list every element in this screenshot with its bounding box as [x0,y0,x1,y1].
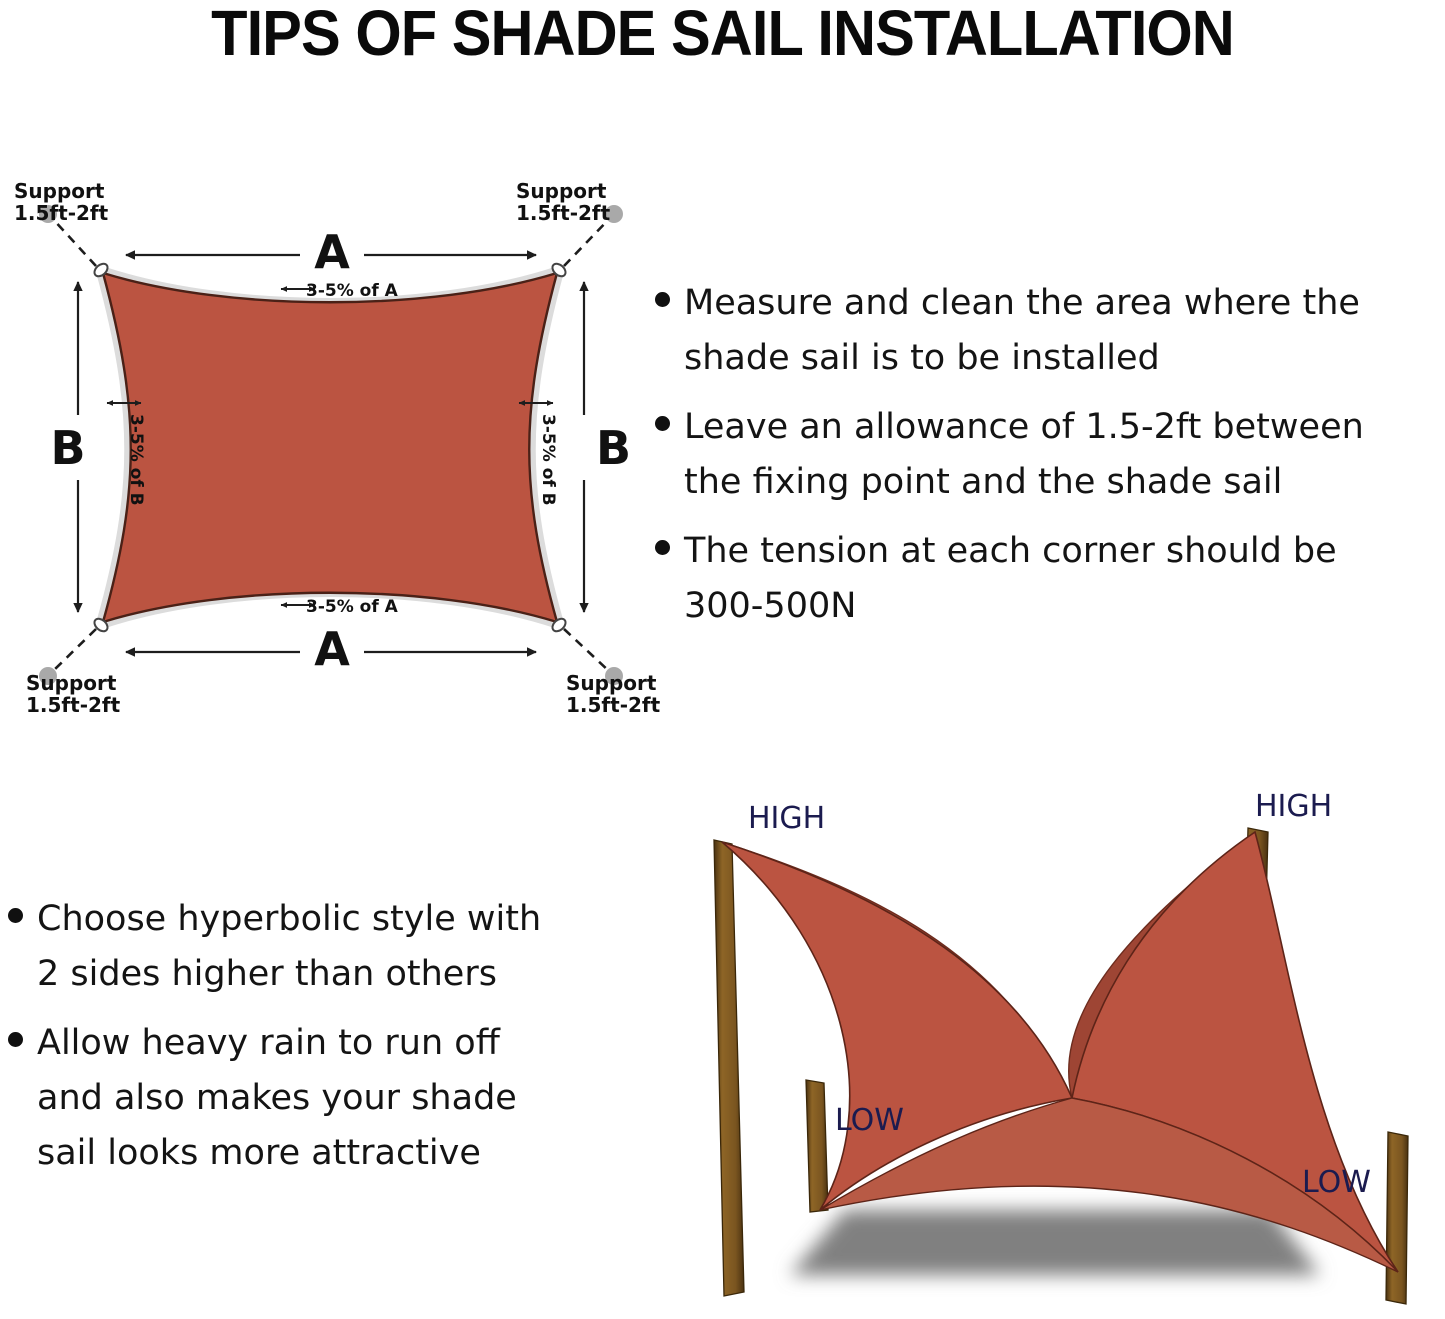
tip-1-line-2: shade sail is to be installed [684,338,1160,378]
hyperbolic-sail-illustration: HIGH HIGH LOW LOW [670,780,1445,1319]
tip-3-line-2: 300-500N [684,586,856,626]
support-label-bottom-right-line2: 1.5ft-2ft [566,693,660,717]
tether-bottom-right [564,629,610,672]
tip-2-line-1: Leave an allowance of 1.5-2ft between [684,407,1364,447]
curve-depth-label-bottom: 3-5% of A [306,597,399,617]
list-item: Choose hyperbolic style with 2 sides hig… [8,892,633,1002]
curve-depth-left: 3-5% of B [107,403,146,506]
support-label-top-right: Support 1.5ft-2ft [516,179,611,225]
post-label-high-right: HIGH [1255,789,1332,824]
tip-text-1: Measure and clean the area where the sha… [684,276,1360,386]
curve-depth-label-right: 3-5% of B [538,414,558,506]
hypar-tip-text-1: Choose hyperbolic style with 2 sides hig… [37,892,541,1002]
post-high-left [714,840,744,1296]
tether-top-right [564,218,610,266]
support-label-top-left-line1: Support [14,179,105,203]
ground-shadow [790,1210,1320,1275]
tip-text-3: The tension at each corner should be 300… [684,524,1337,634]
bullet-dot-icon [655,292,670,307]
support-label-top-right-line2: 1.5ft-2ft [516,201,611,225]
tips-infographic-page: TIPS OF SHADE SAIL INSTALLATION [0,0,1445,1319]
dimension-label-b-right: B [596,421,631,475]
post-label-low-right: LOW [1302,1165,1371,1200]
page-title: TIPS OF SHADE SAIL INSTALLATION [51,0,1395,70]
installation-tips-list: Measure and clean the area where the sha… [655,276,1445,648]
support-label-bottom-right: Support 1.5ft-2ft [566,671,660,717]
curve-depth-label-top: 3-5% of A [306,281,399,301]
post-label-high-left: HIGH [748,801,825,836]
list-item: The tension at each corner should be 300… [655,524,1445,634]
support-label-top-right-line1: Support [516,179,607,203]
tip-1-line-1: Measure and clean the area where the [684,283,1360,323]
sail-main-body [722,832,1398,1272]
hypar-tip-1-line-1: Choose hyperbolic style with [37,899,541,939]
support-label-bottom-left-line1: Support [26,671,117,695]
post-low-left [806,1080,828,1212]
tether-top-left [52,218,96,266]
list-item: Allow heavy rain to run off and also mak… [8,1016,633,1181]
tip-2-line-2: the fixing point and the shade sail [684,462,1282,502]
support-label-bottom-left: Support 1.5ft-2ft [26,671,121,717]
support-label-bottom-right-line1: Support [566,671,657,695]
hyperbolic-style-tips-list: Choose hyperbolic style with 2 sides hig… [8,892,633,1195]
dimension-b-left: B [50,282,85,612]
support-label-top-left-line2: 1.5ft-2ft [14,201,109,225]
dimension-a-bottom: A [126,622,536,676]
dimension-b-right: B [584,282,631,612]
list-item: Leave an allowance of 1.5-2ft between th… [655,400,1445,510]
hypar-tip-2-line-1: Allow heavy rain to run off [37,1023,500,1063]
bullet-dot-icon [8,908,23,923]
support-label-top-left: Support 1.5ft-2ft [14,179,109,225]
dimension-label-a-bottom: A [314,622,350,676]
hypar-tip-2-line-3: sail looks more attractive [37,1133,481,1173]
post-low-right [1386,1132,1408,1304]
tether-bottom-left [52,629,96,672]
tip-3-line-1: The tension at each corner should be [684,531,1337,571]
curve-depth-bottom: 3-5% of A [281,597,399,617]
dimension-label-b-left: B [50,421,85,475]
shade-sail-shape [103,273,557,622]
bullet-dot-icon [655,416,670,431]
rectangular-sail-diagram: Support 1.5ft-2ft Support 1.5ft-2ft Supp… [0,160,660,730]
list-item: Measure and clean the area where the sha… [655,276,1445,386]
hypar-tip-text-2: Allow heavy rain to run off and also mak… [37,1016,517,1181]
post-label-low-left: LOW [835,1103,904,1138]
hypar-tip-2-line-2: and also makes your shade [37,1078,517,1118]
hypar-tip-1-line-2: 2 sides higher than others [37,954,497,994]
tip-text-2: Leave an allowance of 1.5-2ft between th… [684,400,1364,510]
dimension-a-top: A [126,225,536,279]
dimension-label-a-top: A [314,225,350,279]
curve-depth-label-left: 3-5% of B [126,414,146,506]
support-label-bottom-left-line2: 1.5ft-2ft [26,693,121,717]
bullet-dot-icon [655,540,670,555]
bullet-dot-icon [8,1032,23,1047]
